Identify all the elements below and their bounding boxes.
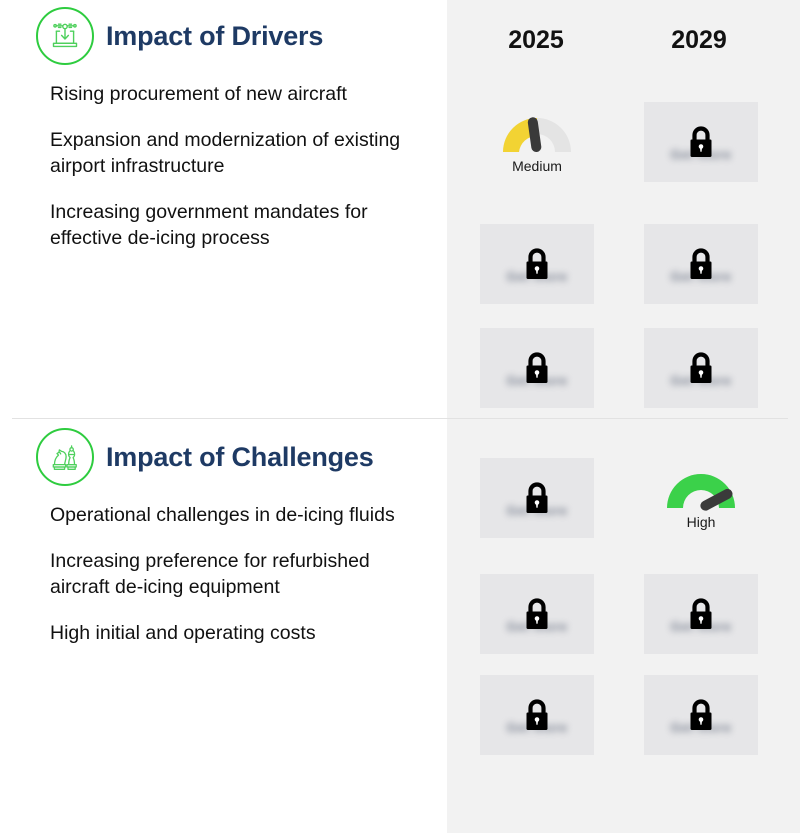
section-title-drivers: Impact of Drivers <box>106 21 323 52</box>
year-header-row: 2025 2029 <box>447 26 800 62</box>
cell-challenges-r1-2025[interactable]: Get more <box>480 458 594 538</box>
locked-placeholder[interactable]: Get more <box>644 328 758 408</box>
cell-challenges-r3-2025[interactable]: Get more <box>480 675 594 755</box>
gauge-medium: Medium <box>480 102 594 182</box>
locked-placeholder[interactable]: Get more <box>644 224 758 304</box>
cell-drivers-r3-2025[interactable]: Get more <box>480 328 594 408</box>
lock-icon <box>520 696 554 734</box>
locked-placeholder[interactable]: Get more <box>644 675 758 755</box>
cell-challenges-r2-2025[interactable]: Get more <box>480 574 594 654</box>
bullet-item: Operational challenges in de-icing fluid… <box>50 503 429 529</box>
lock-icon <box>520 245 554 283</box>
chess-pieces-icon <box>36 428 94 486</box>
locked-placeholder[interactable]: Get more <box>480 458 594 538</box>
gauge-medium-svg <box>499 110 575 156</box>
column-header-2025: 2025 <box>476 26 596 55</box>
section-challenges: Impact of Challenges Operational challen… <box>0 421 447 667</box>
bullet-list-challenges: Operational challenges in de-icing fluid… <box>0 503 447 647</box>
locked-placeholder[interactable]: Get more <box>480 328 594 408</box>
gauge-medium-label: Medium <box>512 158 562 174</box>
gauge-high-label: High <box>687 514 716 530</box>
text-column: Impact of Drivers Rising procurement of … <box>0 0 447 833</box>
cell-challenges-r1-2029[interactable]: High <box>644 458 758 538</box>
lock-icon <box>684 349 718 387</box>
bullet-item: Rising procurement of new aircraft <box>50 82 429 108</box>
lock-icon <box>684 595 718 633</box>
gauge-high: High <box>644 458 758 538</box>
cell-drivers-r2-2029[interactable]: Get more <box>644 224 758 304</box>
lock-icon <box>520 595 554 633</box>
cell-drivers-r1-2029[interactable]: Get more <box>644 102 758 182</box>
section-drivers: Impact of Drivers Rising procurement of … <box>0 0 447 272</box>
cell-drivers-r1-2025[interactable]: Medium <box>480 102 594 182</box>
lock-icon <box>520 479 554 517</box>
locked-placeholder[interactable]: Get more <box>644 574 758 654</box>
section-header-challenges: Impact of Challenges <box>0 421 447 493</box>
cell-challenges-r3-2029[interactable]: Get more <box>644 675 758 755</box>
lock-icon <box>684 245 718 283</box>
cell-drivers-r2-2025[interactable]: Get more <box>480 224 594 304</box>
bullet-item: Expansion and modernization of existing … <box>50 128 429 180</box>
locked-placeholder[interactable]: Get more <box>644 102 758 182</box>
lock-icon <box>684 696 718 734</box>
bullet-item: Increasing preference for refurbished ai… <box>50 549 429 601</box>
locked-placeholder[interactable]: Get more <box>480 574 594 654</box>
lock-icon <box>684 123 718 161</box>
bullet-item: High initial and operating costs <box>50 621 429 647</box>
bullet-item: Increasing government mandates for effec… <box>50 200 429 252</box>
locked-placeholder[interactable]: Get more <box>480 224 594 304</box>
locked-placeholder[interactable]: Get more <box>480 675 594 755</box>
section-header-drivers: Impact of Drivers <box>0 0 447 72</box>
gauge-high-svg <box>663 466 739 512</box>
drivers-growth-icon <box>36 7 94 65</box>
cell-drivers-r3-2029[interactable]: Get more <box>644 328 758 408</box>
section-title-challenges: Impact of Challenges <box>106 442 374 473</box>
cell-challenges-r2-2029[interactable]: Get more <box>644 574 758 654</box>
impact-matrix-infographic: Impact of Drivers Rising procurement of … <box>0 0 800 833</box>
lock-icon <box>520 349 554 387</box>
column-header-2029: 2029 <box>639 26 759 55</box>
bullet-list-drivers: Rising procurement of new aircraft Expan… <box>0 82 447 252</box>
